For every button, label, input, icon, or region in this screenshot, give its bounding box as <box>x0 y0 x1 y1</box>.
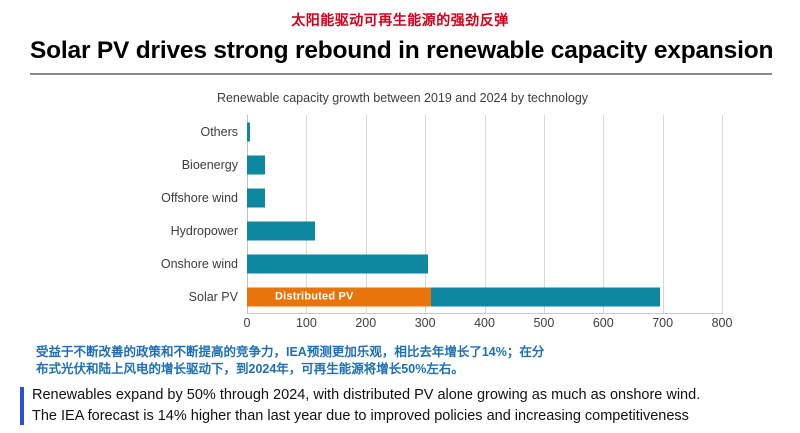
bar-row: Onshore wind <box>247 247 722 280</box>
bar-hydropower <box>247 221 315 240</box>
bar-row: Others <box>247 115 722 148</box>
bar-segment-other-capacity <box>247 221 315 240</box>
x-tick-label-100: 100 <box>296 316 317 330</box>
bar-row: Bioenergy <box>247 148 722 181</box>
x-axis-line <box>247 313 723 314</box>
footer-callout: Renewables expand by 50% through 2024, w… <box>20 386 790 428</box>
bar-segment-other-capacity <box>247 254 428 273</box>
x-tick-label-400: 400 <box>474 316 495 330</box>
page-title: Solar PV drives strong rebound in renewa… <box>30 36 775 66</box>
bar-segment-other-capacity <box>431 287 660 306</box>
plot-area: OthersBioenergyOffshore windHydropowerOn… <box>247 115 722 313</box>
x-tick-label-300: 300 <box>415 316 436 330</box>
chinese-annotation-line-2: 布式光伏和陆上风电的增长驱动下，到2024年，可再生能源将增长50%左右。 <box>36 361 636 378</box>
title-divider <box>30 73 772 75</box>
footer-text: Renewables expand by 50% through 2024, w… <box>32 385 788 427</box>
chinese-annotation-line-1: 受益于不断改善的政策和不断提高的竞争力，IEA预测更加乐观，相比去年增长了14%… <box>36 344 636 361</box>
x-axis-ticks: 0100200300400500600700800 <box>247 316 722 336</box>
chinese-headline: 太阳能驱动可再生能源的强劲反弹 <box>0 11 800 29</box>
x-tick-label-700: 700 <box>652 316 673 330</box>
category-label-offshore-wind: Offshore wind <box>161 191 238 205</box>
chart-container: Renewable capacity growth between 2019 a… <box>150 86 670 361</box>
category-label-others: Others <box>200 125 238 139</box>
x-tick-label-500: 500 <box>533 316 554 330</box>
bar-segment-other-capacity <box>247 155 265 174</box>
category-label-hydropower: Hydropower <box>171 224 238 238</box>
bar-bioenergy <box>247 155 265 174</box>
x-tick-label-0: 0 <box>244 316 251 330</box>
bar-segment-other-capacity <box>247 122 250 141</box>
slide-canvas: 太阳能驱动可再生能源的强劲反弹 Solar PV drives strong r… <box>0 0 800 433</box>
footer-accent-bar <box>20 387 24 425</box>
bar-onshore-wind <box>247 254 428 273</box>
bar-segment-other-capacity <box>247 188 265 207</box>
bar-row: Hydropower <box>247 214 722 247</box>
footer-line-2: The IEA forecast is 14% higher than last… <box>32 406 788 427</box>
gridline-800 <box>722 115 723 313</box>
chinese-annotation: 受益于不断改善的政策和不断提高的竞争力，IEA预测更加乐观，相比去年增长了14%… <box>36 344 636 378</box>
x-tick-label-800: 800 <box>712 316 733 330</box>
bar-solar-pv: Distributed PV <box>247 287 660 306</box>
bar-others <box>247 122 250 141</box>
bar-segment-distributed-pv: Distributed PV <box>247 287 431 306</box>
category-label-solar-pv: Solar PV <box>189 290 238 304</box>
bar-row: Solar PVDistributed PV <box>247 280 722 313</box>
chart-title: Renewable capacity growth between 2019 a… <box>150 90 655 106</box>
bar-row: Offshore wind <box>247 181 722 214</box>
x-tick-label-200: 200 <box>355 316 376 330</box>
category-label-bioenergy: Bioenergy <box>182 158 238 172</box>
chart-bars: OthersBioenergyOffshore windHydropowerOn… <box>247 115 722 313</box>
footer-line-1: Renewables expand by 50% through 2024, w… <box>32 385 788 406</box>
x-tick-label-600: 600 <box>593 316 614 330</box>
bar-segment-label: Distributed PV <box>247 291 354 303</box>
bar-offshore-wind <box>247 188 265 207</box>
category-label-onshore-wind: Onshore wind <box>161 257 238 271</box>
